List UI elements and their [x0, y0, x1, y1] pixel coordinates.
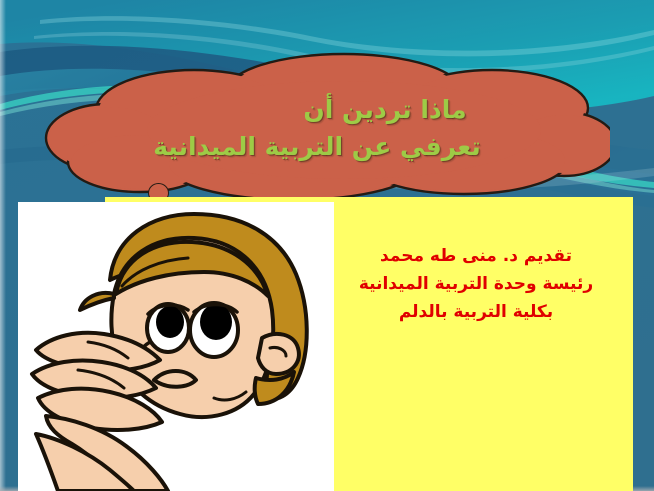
presenter-role-line: رئيسة وحدة التربية الميدانية: [331, 270, 621, 298]
thought-cloud: ماذا تردين أن تعرفي عن التربية الميدانية: [44, 52, 610, 204]
presentation-slide: ماذا تردين أن تعرفي عن التربية الميدانية…: [0, 0, 654, 491]
thinking-cartoon-illustration: [18, 202, 334, 491]
picture-frame: [18, 202, 334, 491]
presenter-name-line: تقديم د. منى طه محمد: [331, 242, 621, 270]
thought-cloud-shape: [44, 52, 610, 204]
slide-left-edge-highlight: [0, 0, 6, 491]
presenter-institution-line: بكلية التربية بالدلم: [331, 298, 621, 326]
presenter-credits: تقديم د. منى طه محمد رئيسة وحدة التربية …: [331, 242, 621, 326]
